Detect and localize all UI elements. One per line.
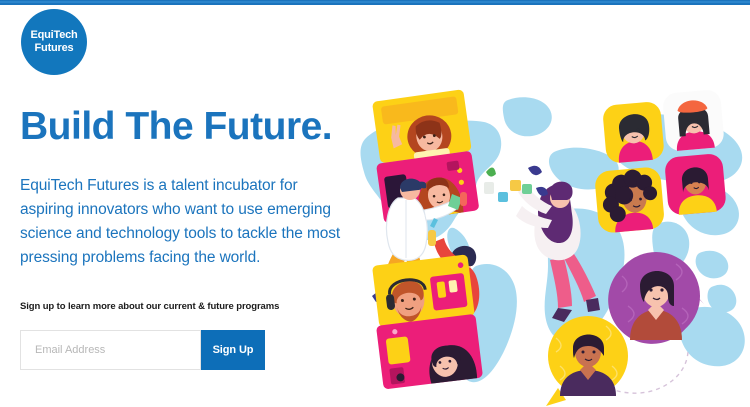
hero-content: Build The Future. EquiTech Futures is a … — [20, 104, 360, 370]
sign-up-button[interactable]: Sign Up — [201, 330, 265, 370]
logo-line-1: EquiTech — [30, 29, 77, 42]
avatar-tile-pink — [664, 153, 727, 216]
top-accent-bar-highlight — [0, 1, 750, 3]
signup-note: Sign up to learn more about our current … — [20, 301, 360, 312]
avatar-tile-white — [662, 89, 725, 152]
hero-paragraph: EquiTech Futures is a talent incubator f… — [20, 174, 350, 270]
video-card-pink-bottom — [376, 314, 483, 390]
avatar-tile-yellow — [602, 101, 665, 164]
email-field[interactable] — [20, 330, 201, 370]
top-accent-bar — [0, 0, 750, 5]
page-title: Build The Future. — [20, 104, 360, 150]
speech-avatar-yellow — [546, 316, 628, 406]
avatar-tile-curly — [594, 166, 665, 234]
signup-form: Sign Up — [20, 330, 265, 370]
floating-objects — [484, 166, 548, 202]
landing-page: EquiTech Futures Build The Future. EquiT… — [0, 0, 750, 407]
logo-line-2: Futures — [35, 42, 74, 55]
site-logo[interactable]: EquiTech Futures — [21, 9, 87, 75]
hero-illustration — [358, 60, 750, 407]
